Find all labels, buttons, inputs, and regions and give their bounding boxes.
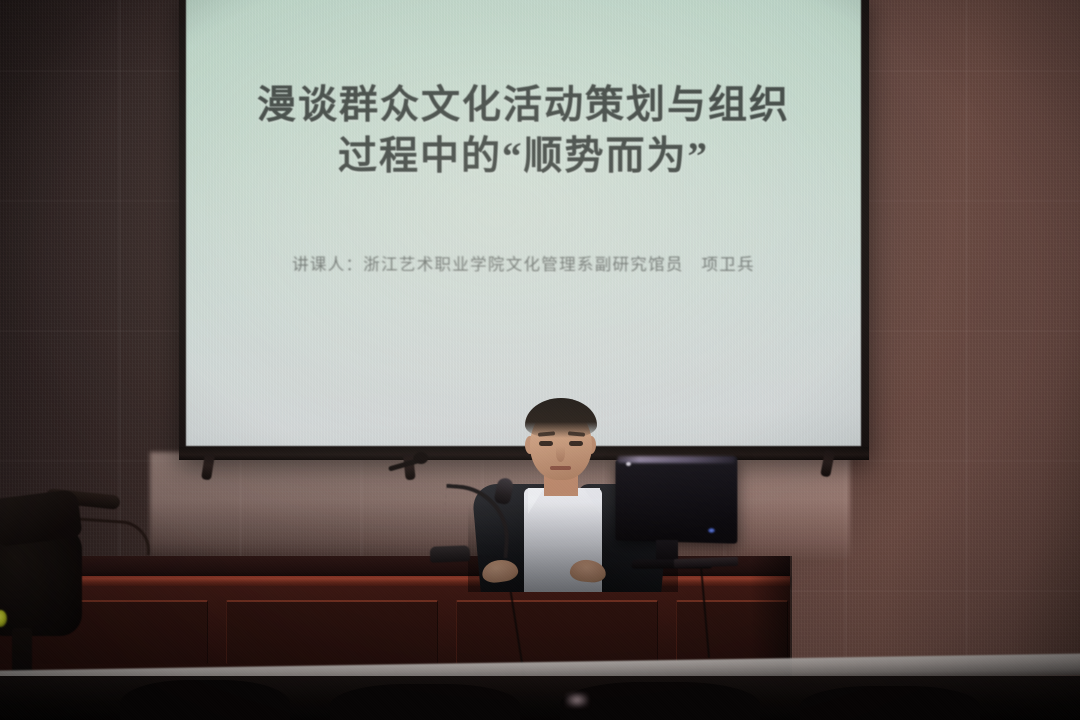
lecture-hall-photo: 漫谈群众文化活动策划与组织 过程中的“顺势而为” 讲课人：浙江艺术职业学院文化管… xyxy=(0,0,1080,720)
room-vignette xyxy=(0,0,1080,720)
